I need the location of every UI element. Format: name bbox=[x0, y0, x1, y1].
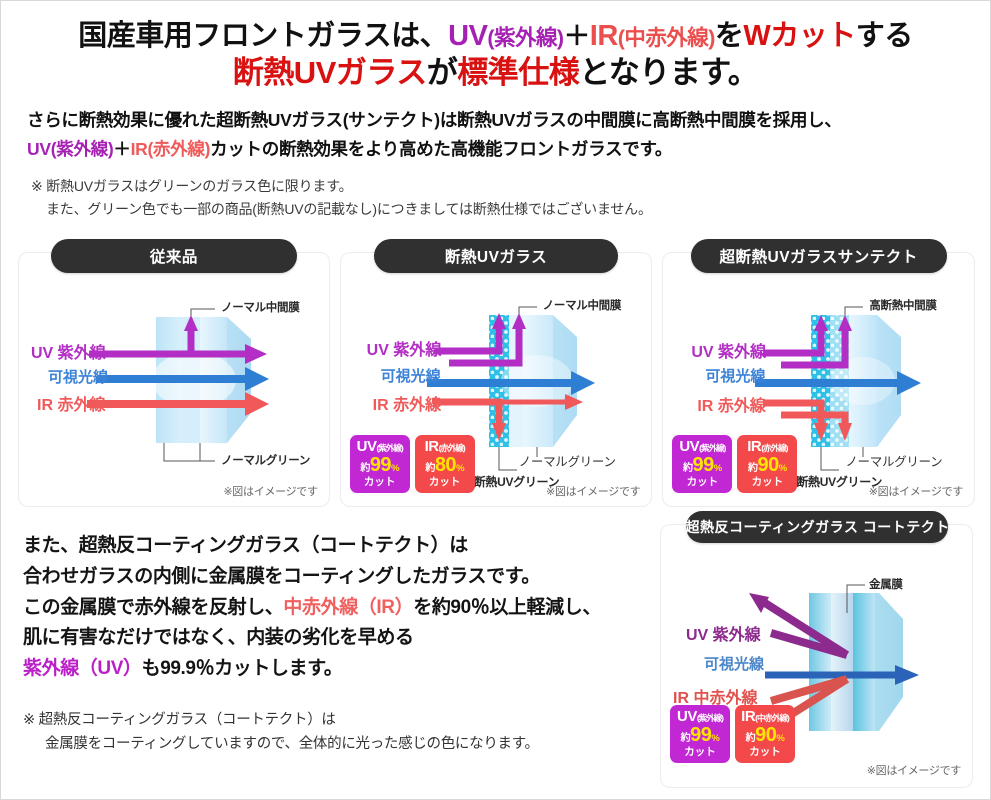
badge-ir-cut: カット bbox=[415, 477, 475, 488]
note-2: また、グリーン色でも一部の商品(断熱UVの記載なし)につきましては断熱仕様ではご… bbox=[31, 198, 964, 221]
badge-uv-cut: カット bbox=[672, 477, 732, 488]
bottom-line-5: 紫外線（UV）も99.9％カットします。 bbox=[23, 654, 653, 685]
badge-ir: IR(赤外線) 約90% カット bbox=[737, 435, 797, 493]
callout-high-interlayer-suntect: 高断熱中間膜 bbox=[869, 297, 936, 313]
bottom-line-3a: この金属膜で赤外線を反射し、 bbox=[23, 597, 283, 618]
badge-uv: UV(紫外線) 約99% カット bbox=[350, 435, 410, 493]
badges-suntect: UV(紫外線) 約99% カット IR(赤外線) 約90% カット bbox=[672, 435, 797, 493]
title-seg-0: 国産車用フロントガラスは、 bbox=[78, 20, 448, 52]
badge-uv-type: UV(紫外線) bbox=[672, 439, 732, 454]
badge-ir: IR(赤外線) 約80% カット bbox=[415, 435, 475, 493]
card-suntect: 超断熱UVガラスサンテクト bbox=[663, 253, 974, 506]
bottom-description: また、超熱反コーティングガラス（コートテクト）は 合わせガラスの内側に金属膜をコ… bbox=[23, 531, 653, 685]
bottom-line-3c: を約90％以上軽減し、 bbox=[413, 597, 601, 618]
comparison-cards: 従来品 bbox=[19, 253, 974, 506]
ray-label-ir-suntect: IR 赤外線 bbox=[697, 392, 765, 416]
bottom-line-4: 肌に有害なだけではなく、内装の劣化を早める bbox=[23, 623, 653, 654]
badges-heat-shield: UV(紫外線) 約99% カット IR(赤外線) 約80% カット bbox=[350, 435, 475, 493]
ray-label-uv-suntect: UV 紫外線 bbox=[691, 338, 766, 362]
badge-ir-value: 約80% bbox=[415, 455, 475, 475]
ray-label-visible-conventional: 可視光線 bbox=[48, 366, 108, 387]
card-title-suntect: 超断熱UVガラスサンテクト bbox=[691, 239, 947, 273]
badge-uv-cut: カット bbox=[350, 477, 410, 488]
badge-ir-value: 約90% bbox=[737, 455, 797, 475]
title2-seg-ga: が bbox=[427, 55, 458, 90]
lead-ir: IR(赤外線) bbox=[131, 139, 211, 159]
ray-label-uv-coattect: UV 紫外線 bbox=[686, 621, 761, 645]
badge-ir-type: IR(中赤外線) bbox=[735, 709, 795, 724]
badge-ir-cut: カット bbox=[735, 747, 795, 758]
image-note-conventional: ※図はイメージです bbox=[223, 483, 317, 499]
badge-uv-value: 約99% bbox=[672, 455, 732, 475]
image-note-heat-shield: ※図はイメージです bbox=[546, 483, 640, 499]
lead-uv: UV(紫外線) bbox=[27, 139, 113, 159]
bottom-line-1: また、超熱反コーティングガラス（コートテクト）は bbox=[23, 531, 653, 562]
card-heat-shield-uv: 断熱UVガラス bbox=[341, 253, 652, 506]
callout-normal-green-conventional: ノーマルグリーン bbox=[221, 452, 310, 468]
bottom-line-5-uv: 紫外線（UV） bbox=[23, 658, 142, 679]
bottom-line-2: 合わせガラスの内側に金属膜をコーティングしたガラスです。 bbox=[23, 562, 653, 593]
title-line-2: 断熱UVガラスが標準仕様となります。 bbox=[1, 54, 990, 92]
lead-line-2: UV(紫外線)＋IR(赤外線)カットの断熱効果をより高めた高機能フロントガラスで… bbox=[27, 135, 964, 163]
title2-seg-tail: となります。 bbox=[579, 55, 758, 90]
lead-rest: カットの断熱効果をより高めた高機能フロントガラスです。 bbox=[210, 139, 672, 159]
card-title-coattect: 超熱反コーティングガラス コートテクト bbox=[686, 511, 948, 543]
lead-plus: ＋ bbox=[113, 139, 130, 159]
title2-seg-product: 断熱UVガラス bbox=[233, 55, 427, 90]
callout-metal-film-coattect: 金属膜 bbox=[869, 576, 903, 592]
disclaimer-notes: ※ 断熱UVガラスはグリーンのガラス色に限ります。 また、グリーン色でも一部の商… bbox=[31, 175, 964, 220]
badges-coattect: UV(紫外線) 約99% カット IR(中赤外線) 約90% カット bbox=[670, 705, 795, 763]
badge-uv: UV(紫外線) 約99% カット bbox=[672, 435, 732, 493]
title-seg-suru: する bbox=[856, 20, 913, 52]
badge-ir: IR(中赤外線) 約90% カット bbox=[735, 705, 795, 763]
title-seg-ir-sub: (中赤外線) bbox=[618, 26, 715, 50]
bottom-line-5b: も99.9％カットします。 bbox=[142, 658, 343, 679]
ray-label-visible-suntect: 可視光線 bbox=[705, 365, 765, 386]
title-seg-wo: を bbox=[715, 20, 744, 52]
badge-ir-cut: カット bbox=[737, 477, 797, 488]
callout-normal-green-heat-shield: ノーマルグリーン bbox=[519, 451, 616, 470]
ray-label-ir-heat-shield: IR 赤外線 bbox=[373, 391, 441, 415]
image-note-coattect: ※図はイメージです bbox=[867, 762, 961, 778]
callout-normal-green-suntect: ノーマルグリーン bbox=[845, 451, 942, 470]
title2-seg-standard: 標準仕様 bbox=[457, 55, 579, 90]
badge-uv-value: 約99% bbox=[670, 725, 730, 745]
title-line-1: 国産車用フロントガラスは、UV(紫外線)＋IR(中赤外線)をWカットする bbox=[1, 19, 990, 54]
badge-uv-type: UV(紫外線) bbox=[350, 439, 410, 454]
ray-label-visible-heat-shield: 可視光線 bbox=[381, 365, 441, 386]
callout-normal-interlayer-heat-shield: ノーマル中間膜 bbox=[543, 297, 621, 313]
card-coattect: 超熱反コーティングガラス コートテクト bbox=[661, 525, 972, 787]
title-seg-uv: UV bbox=[448, 20, 487, 52]
title-seg-wcut: Wカット bbox=[743, 20, 855, 52]
title-seg-uv-sub: (紫外線) bbox=[487, 26, 563, 50]
badge-uv-value: 約99% bbox=[350, 455, 410, 475]
card-conventional: 従来品 bbox=[19, 253, 329, 506]
card-title-conventional: 従来品 bbox=[51, 239, 297, 273]
badge-ir-type: IR(赤外線) bbox=[415, 439, 475, 454]
image-note-suntect: ※図はイメージです bbox=[869, 483, 963, 499]
ray-label-ir-conventional: IR 赤外線 bbox=[37, 391, 105, 415]
badge-uv-type: UV(紫外線) bbox=[670, 709, 730, 724]
ray-label-uv-conventional: UV 紫外線 bbox=[31, 339, 106, 363]
title-seg-plus: ＋ bbox=[564, 21, 590, 51]
bottom-line-3-ir: 中赤外線（IR） bbox=[283, 597, 413, 618]
ray-label-uv-heat-shield: UV 紫外線 bbox=[367, 336, 442, 360]
bottom-note-2: 金属膜をコーティングしていますので、全体的に光った感じの色になります。 bbox=[23, 733, 653, 757]
callout-normal-interlayer-conventional: ノーマル中間膜 bbox=[221, 299, 299, 315]
badge-uv: UV(紫外線) 約99% カット bbox=[670, 705, 730, 763]
lead-line-1: さらに断熱効果に優れた超断熱UVガラス(サンテクト)は断熱UVガラスの中間膜に高… bbox=[27, 106, 964, 134]
lead-paragraph: さらに断熱効果に優れた超断熱UVガラス(サンテクト)は断熱UVガラスの中間膜に高… bbox=[27, 106, 964, 163]
title-seg-ir: IR bbox=[590, 20, 618, 52]
page-title: 国産車用フロントガラスは、UV(紫外線)＋IR(中赤外線)をWカットする 断熱U… bbox=[1, 1, 990, 92]
note-1: ※ 断熱UVガラスはグリーンのガラス色に限ります。 bbox=[31, 175, 964, 198]
ray-label-visible-coattect: 可視光線 bbox=[704, 653, 764, 674]
badge-ir-value: 約90% bbox=[735, 725, 795, 745]
badge-uv-cut: カット bbox=[670, 747, 730, 758]
bottom-note-1: ※ 超熱反コーティングガラス（コートテクト）は bbox=[23, 709, 653, 733]
infographic-page: 国産車用フロントガラスは、UV(紫外線)＋IR(中赤外線)をWカットする 断熱U… bbox=[0, 0, 991, 800]
bottom-line-3: この金属膜で赤外線を反射し、中赤外線（IR）を約90％以上軽減し、 bbox=[23, 593, 653, 624]
badge-ir-type: IR(赤外線) bbox=[737, 439, 797, 454]
bottom-disclaimer: ※ 超熱反コーティングガラス（コートテクト）は 金属膜をコーティングしていますの… bbox=[23, 709, 653, 757]
card-title-heat-shield-uv: 断熱UVガラス bbox=[374, 239, 618, 273]
